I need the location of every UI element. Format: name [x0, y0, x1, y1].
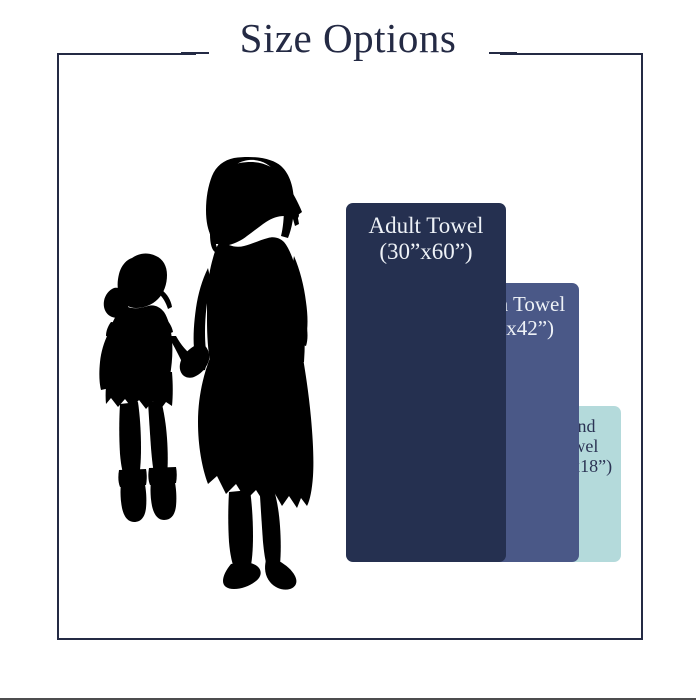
bar-adult-towel-label: Adult Towel (30”x60”) [369, 213, 484, 562]
bar-adult-towel[interactable]: Adult Towel (30”x60”) [346, 203, 506, 562]
towel-size-bars: Adult Towel (30”x60”) Youth Towel (24”x4… [0, 0, 696, 700]
size-options-infographic: Size Options [0, 0, 696, 700]
